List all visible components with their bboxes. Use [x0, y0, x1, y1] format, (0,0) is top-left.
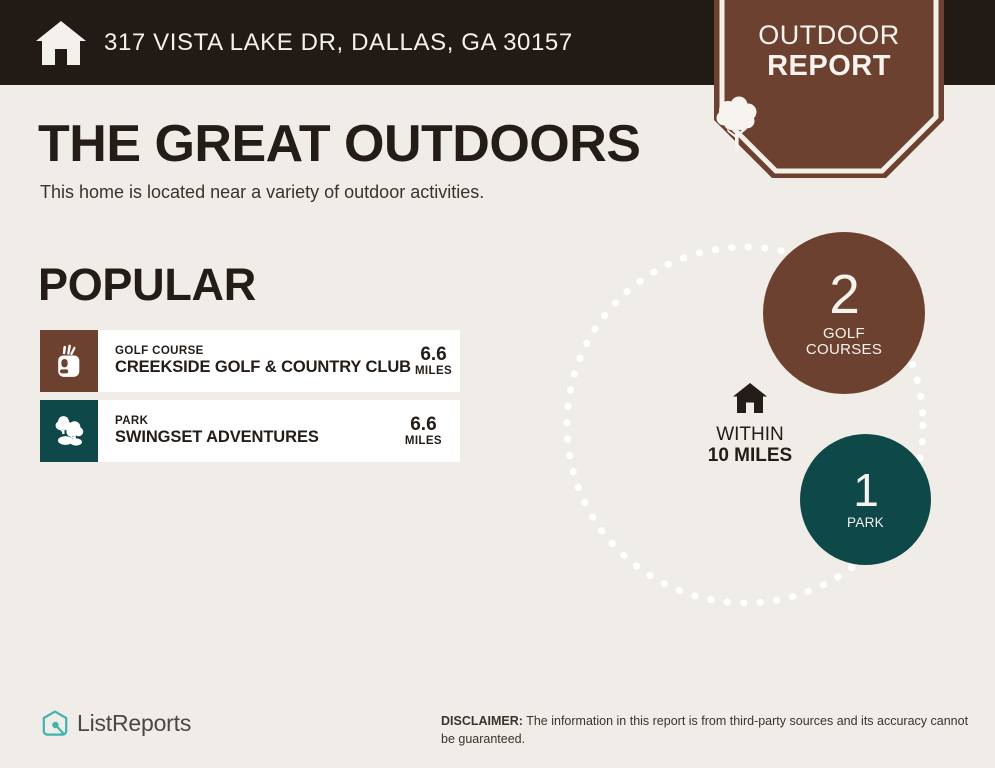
count-label: PARK: [847, 516, 884, 530]
distance-value: 6.6: [405, 415, 442, 434]
within-line1: WITHIN: [665, 424, 835, 445]
distance-value: 6.6: [415, 345, 452, 364]
badge-title-line1: OUTDOOR: [714, 22, 944, 49]
page-title: THE GREAT OUTDOORS: [38, 118, 640, 170]
list-item-distance: 6.6 MILES: [411, 345, 462, 378]
page-subtitle: This home is located near a variety of o…: [40, 182, 484, 203]
listreports-house-icon: [42, 710, 68, 737]
park-trees-icon: [40, 400, 98, 462]
within-radius-label: WITHIN 10 MILES: [665, 382, 835, 467]
count-value: 1: [853, 468, 878, 512]
list-item-distance: 6.6 MILES: [401, 415, 452, 448]
count-bubble-golf-courses[interactable]: 2 GOLF COURSES: [763, 232, 925, 394]
badge-title-line2: REPORT: [714, 52, 944, 81]
listreports-logo[interactable]: ListReports: [42, 710, 191, 737]
home-icon: [665, 382, 835, 414]
badge-title: OUTDOOR REPORT: [714, 22, 944, 81]
disclaimer-label: DISCLAIMER:: [441, 714, 523, 728]
brand-name: ListReports: [77, 710, 191, 737]
popular-list: GOLF COURSE CREEKSIDE GOLF & COUNTRY CLU…: [40, 330, 460, 470]
distance-unit: MILES: [415, 366, 452, 378]
property-address: 317 VISTA LAKE DR, DALLAS, GA 30157: [104, 29, 573, 57]
count-label: GOLF COURSES: [806, 326, 882, 358]
list-item-text: GOLF COURSE CREEKSIDE GOLF & COUNTRY CLU…: [115, 345, 411, 376]
list-item-category: PARK: [115, 415, 401, 427]
count-label-line1: GOLF: [823, 325, 865, 342]
golf-bag-icon: [40, 330, 98, 392]
home-icon: [34, 19, 88, 67]
list-item[interactable]: PARK SWINGSET ADVENTURES 6.6 MILES: [40, 400, 460, 462]
list-item-body: PARK SWINGSET ADVENTURES 6.6 MILES: [98, 400, 460, 462]
count-label-line2: COURSES: [806, 341, 882, 358]
popular-heading: POPULAR: [38, 262, 256, 307]
count-value: 2: [829, 268, 859, 321]
list-item-category: GOLF COURSE: [115, 345, 411, 357]
list-item-body: GOLF COURSE CREEKSIDE GOLF & COUNTRY CLU…: [98, 330, 470, 392]
list-item[interactable]: GOLF COURSE CREEKSIDE GOLF & COUNTRY CLU…: [40, 330, 460, 392]
list-item-text: PARK SWINGSET ADVENTURES: [115, 415, 401, 446]
list-item-name: SWINGSET ADVENTURES: [115, 429, 401, 446]
report-badge: OUTDOOR REPORT: [714, 0, 944, 178]
disclaimer: DISCLAIMER: The information in this repo…: [441, 713, 971, 749]
tree-icon: [714, 96, 944, 152]
distance-unit: MILES: [405, 436, 442, 448]
count-bubble-parks[interactable]: 1 PARK: [800, 434, 931, 565]
list-item-name: CREEKSIDE GOLF & COUNTRY CLUB: [115, 359, 411, 376]
radius-diagram: WITHIN 10 MILES 2 GOLF COURSES 1 PARK: [540, 225, 995, 625]
